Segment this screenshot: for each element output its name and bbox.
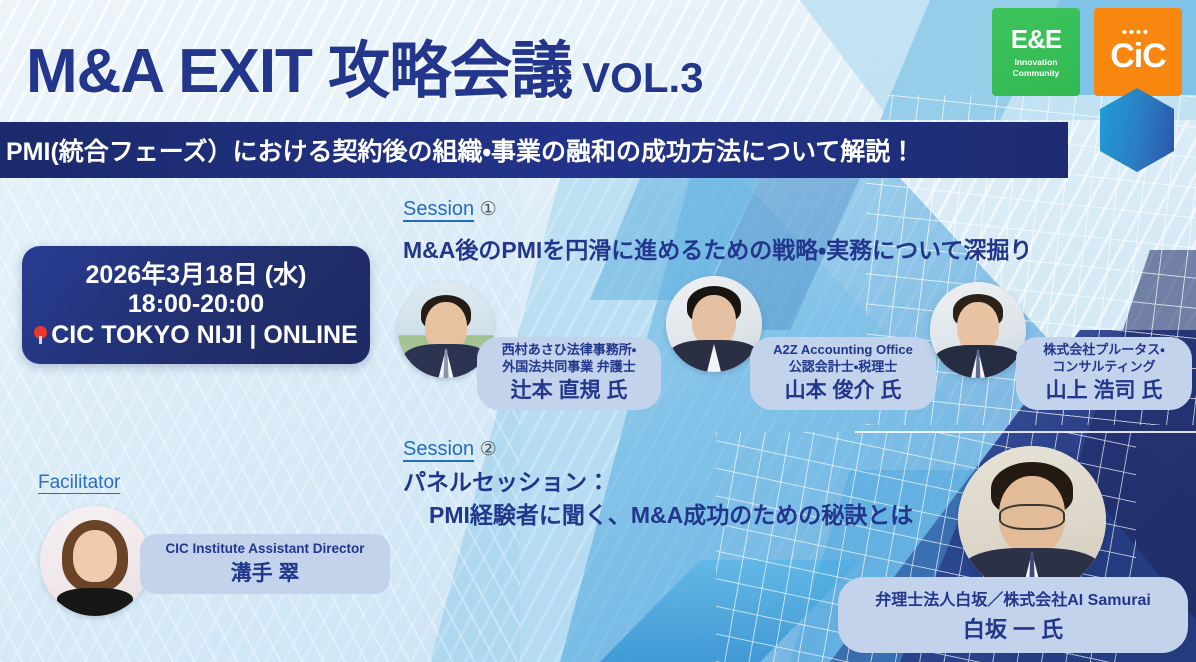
- location-pin-icon: [34, 326, 47, 344]
- title-volume: VOL.3: [582, 54, 703, 101]
- session-1-title: M&A後のPMIを円滑に進めるための戦略・実務について深掘り: [403, 231, 1032, 265]
- event-time: 18:00-20:00: [128, 290, 264, 320]
- facilitator-org: CIC Institute Assistant Director: [165, 541, 364, 556]
- event-venue: CIC TOKYO NIJI | ONLINE: [51, 320, 358, 350]
- speaker-1-org-line1: 西村あさひ法律事務所・: [502, 342, 636, 359]
- session-2-title: パネルセッション： PMI経験者に聞く、M&A成功のための秘訣とは: [403, 466, 913, 533]
- speaker-3-org-line1: 株式会社プルータス・: [1043, 342, 1164, 359]
- cic-logo: CiC: [1094, 8, 1182, 96]
- page-title: M&A EXIT 攻略会議VOL.3: [26, 20, 704, 110]
- speaker-2-name: 山本 俊介 氏: [785, 378, 902, 403]
- logo-group: E&E Innovation Community CiC: [992, 8, 1182, 96]
- event-details-box: 2026年3月18日 (水) 18:00-20:00 CIC TOKYO NIJ…: [22, 246, 370, 364]
- panelist-nameplate: 弁理士法人白坂／株式会社AI Samurai 白坂 一 氏: [838, 577, 1188, 653]
- session-2-number: ②: [480, 439, 497, 460]
- speaker-3-org-line2: コンサルティング: [1052, 359, 1155, 376]
- speaker-3-avatar: [930, 282, 1026, 378]
- event-date: 2026年3月18日 (水): [86, 261, 307, 291]
- speaker-1-nameplate: 西村あさひ法律事務所・ 外国法共同事業 弁護士 辻本 直規 氏: [477, 337, 661, 410]
- cic-logo-dots-icon: [1123, 30, 1148, 34]
- speaker-2-portrait: [666, 276, 762, 372]
- subtitle-band: PMI(統合フェーズ）における契約後の組織・事業の融和の成功方法について解説！: [0, 122, 1068, 178]
- speaker-3-portrait: [930, 282, 1026, 378]
- facilitator-portrait: [40, 506, 150, 616]
- speaker-2-org-line1: A2Z Accounting Office: [773, 342, 913, 359]
- session-2-label-text: Session: [403, 438, 474, 460]
- ee-logo: E&E Innovation Community: [992, 8, 1080, 96]
- session-1-number: ①: [480, 199, 497, 220]
- session-1-label: Session ①: [403, 198, 497, 221]
- ee-logo-tagline: Innovation Community: [1013, 57, 1060, 78]
- speaker-1-org-line2: 外国法共同事業 弁護士: [502, 359, 636, 376]
- subtitle-text: PMI(統合フェーズ）における契約後の組織・事業の融和の成功方法について解説！: [0, 132, 915, 168]
- ee-tagline-line1: Innovation: [1015, 57, 1058, 67]
- ee-tagline-line2: Community: [1013, 68, 1060, 78]
- panelist-org: 弁理士法人白坂／株式会社AI Samurai: [875, 586, 1151, 610]
- facilitator-name: 溝手 翠: [231, 557, 300, 587]
- session-2-label: Session ②: [403, 438, 497, 461]
- event-venue-row: CIC TOKYO NIJI | ONLINE: [34, 320, 358, 350]
- session-1-label-text: Session: [403, 198, 474, 220]
- speaker-2-org-line2: 公認会計士・税理士: [789, 359, 897, 376]
- speaker-3-name: 山上 浩司 氏: [1046, 378, 1163, 403]
- session-2-title-line1: パネルセッション：: [403, 469, 610, 495]
- title-main: M&A EXIT 攻略会議: [26, 37, 572, 106]
- speaker-2-nameplate: A2Z Accounting Office 公認会計士・税理士 山本 俊介 氏: [750, 337, 936, 410]
- panelist-name: 白坂 一 氏: [963, 612, 1063, 644]
- facilitator-nameplate: CIC Institute Assistant Director 溝手 翠: [140, 534, 390, 594]
- facilitator-label: Facilitator: [38, 472, 120, 494]
- facilitator-avatar: [40, 506, 150, 616]
- ee-logo-name: E&E: [1011, 26, 1061, 52]
- speaker-1-name: 辻本 直規 氏: [511, 378, 628, 403]
- speaker-2-avatar: [666, 276, 762, 372]
- session-2-title-line2: PMI経験者に聞く、M&A成功のための秘訣とは: [403, 499, 913, 532]
- speaker-3-nameplate: 株式会社プルータス・ コンサルティング 山上 浩司 氏: [1016, 337, 1192, 410]
- cic-logo-name: CiC: [1110, 37, 1166, 76]
- event-poster: M&A EXIT 攻略会議VOL.3 PMI(統合フェーズ）における契約後の組織…: [0, 0, 1196, 662]
- panelist-avatar: [958, 446, 1106, 594]
- panelist-portrait: [958, 446, 1106, 594]
